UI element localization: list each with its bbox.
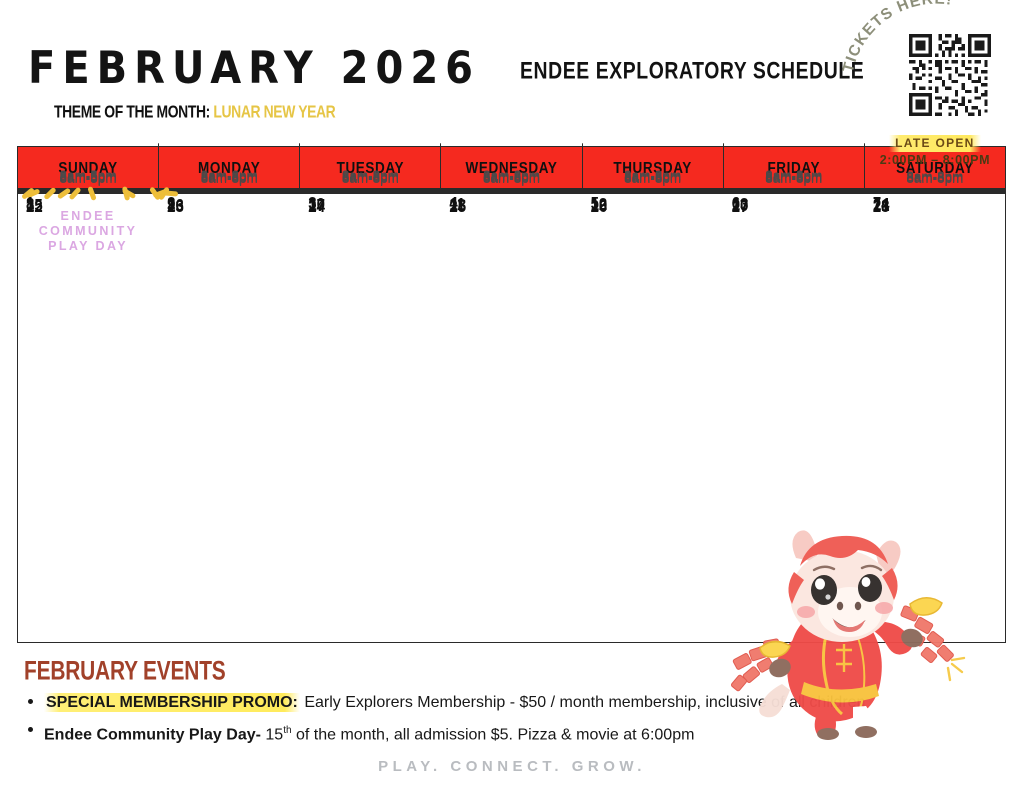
page-header: FEBRUARY 2026 THEME OF THE MONTH: LUNAR … [0, 0, 1024, 140]
late-open-title: LATE OPEN [889, 135, 980, 152]
event-label: Endee Community Play Day- [44, 726, 261, 743]
day-hours: 8am-8pm [441, 171, 581, 186]
day-number: 27 [732, 197, 749, 216]
day-hours: 8am-8pm [865, 171, 1005, 186]
event-text: 15 [261, 726, 283, 743]
day-number: 24 [308, 197, 325, 216]
calendar-week-row [18, 193, 1005, 194]
late-open-note: LATE OPEN2:00PM – 8:00PM [865, 134, 1005, 167]
day-hours: 8am-8pm [724, 171, 864, 186]
day-number: 26 [591, 197, 608, 216]
page-title: FEBRUARY 2026 [28, 44, 480, 93]
events-list: SPECIAL MEMBERSHIP PROMO: Early Explorer… [24, 691, 1014, 746]
theme-value: LUNAR NEW YEAR [213, 103, 335, 123]
bullet-icon [28, 727, 33, 732]
day-hours: 8am-8pm [300, 171, 440, 186]
bullet-icon [28, 699, 33, 704]
day-hours: 8am-8pm [583, 171, 723, 186]
events-section: FEBRUARY EVENTS SPECIAL MEMBERSHIP PROMO… [24, 655, 1014, 751]
theme-of-the-month: THEME OF THE MONTH: LUNAR NEW YEAR [54, 103, 335, 123]
events-heading: FEBRUARY EVENTS [24, 655, 965, 687]
calendar-grid: SUNDAYMONDAYTUESDAYWEDNESDAYTHURSDAYFRID… [17, 146, 1006, 643]
event-list-item: SPECIAL MEMBERSHIP PROMO: Early Explorer… [24, 691, 1014, 714]
day-number: 28 [873, 197, 890, 216]
event-ordinal-suffix: th [283, 725, 291, 736]
day-hours: 8am-8pm [159, 171, 299, 186]
event-text: Early Explorers Membership - $50 / month… [300, 694, 866, 711]
late-open-time: 2:00PM – 8:00PM [865, 153, 1005, 167]
day-number: 23 [167, 197, 184, 216]
footer-tagline: PLAY. CONNECT. GROW. [0, 758, 1024, 775]
calendar-page: FEBRUARY 2026 THEME OF THE MONTH: LUNAR … [0, 0, 1024, 791]
day-number: 25 [449, 197, 466, 216]
day-hours: 8am-5pm [18, 171, 158, 186]
event-label: SPECIAL MEMBERSHIP PROMO: [44, 693, 300, 712]
day-number: 22 [26, 197, 43, 216]
qr-code[interactable] [899, 34, 1001, 116]
event-text: of the month, all admission $5. Pizza & … [292, 726, 695, 743]
event-list-item: Endee Community Play Day- 15th of the mo… [24, 719, 1014, 746]
schedule-subtitle: ENDEE EXPLORATORY SCHEDULE [520, 58, 864, 86]
theme-label: THEME OF THE MONTH: [54, 103, 210, 123]
